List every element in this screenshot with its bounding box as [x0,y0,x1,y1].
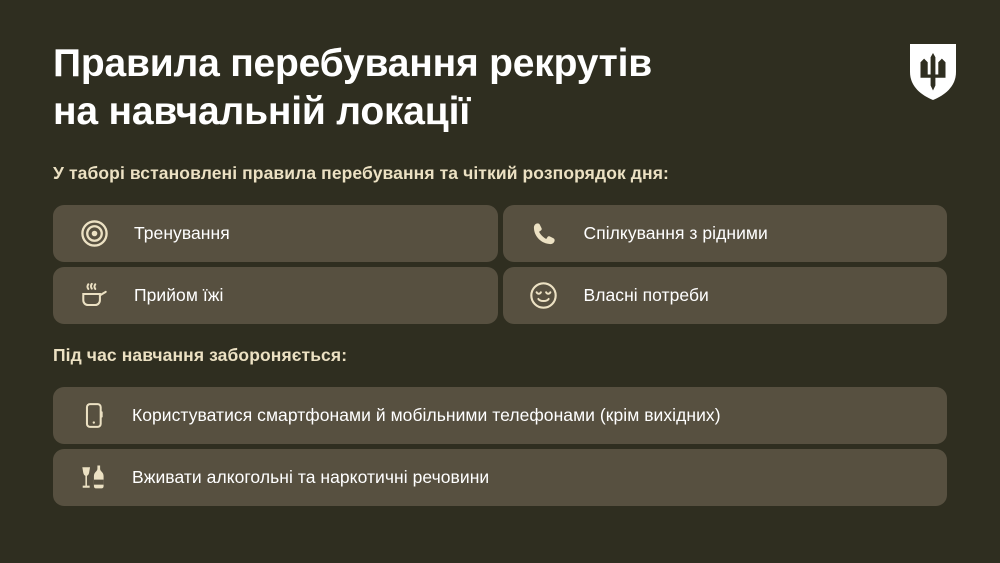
list-item[interactable]: Спілкування з рідними [503,205,948,262]
list-item-label: Користуватися смартфонами й мобільними т… [132,405,721,426]
cooking-pot-icon [79,281,109,311]
section-heading-forbidden: Під час навчання забороняється: [53,345,347,366]
target-icon [79,219,109,249]
alcohol-bottle-glass-icon [79,463,109,493]
page-title: Правила перебування рекрутів на навчальн… [53,40,813,135]
phone-icon [529,219,559,249]
smiley-face-icon [529,281,559,311]
list-item[interactable]: Вживати алкогольні та наркотичні речовин… [53,449,947,506]
list-item-label: Прийом їжі [134,285,223,306]
list-item[interactable]: Власні потреби [503,267,948,324]
list-item[interactable]: Користуватися смартфонами й мобільними т… [53,387,947,444]
header: Правила перебування рекрутів на навчальн… [53,40,960,135]
card-grid-forbidden: Користуватися смартфонами й мобільними т… [53,387,947,506]
section-heading-allowed: У таборі встановлені правила перебування… [53,163,669,184]
card-grid-allowed: Тренування Спілкування з рідними [53,205,947,324]
smartphone-icon [79,401,109,431]
list-item-label: Тренування [134,223,230,244]
list-item[interactable]: Прийом їжі [53,267,498,324]
list-item-label: Власні потреби [584,285,709,306]
ukrainian-armed-forces-shield-trident-icon [910,44,956,100]
list-item-label: Вживати алкогольні та наркотичні речовин… [132,467,489,488]
list-item[interactable]: Тренування [53,205,498,262]
list-item-label: Спілкування з рідними [584,223,768,244]
poster-canvas: Правила перебування рекрутів на навчальн… [0,0,1000,563]
